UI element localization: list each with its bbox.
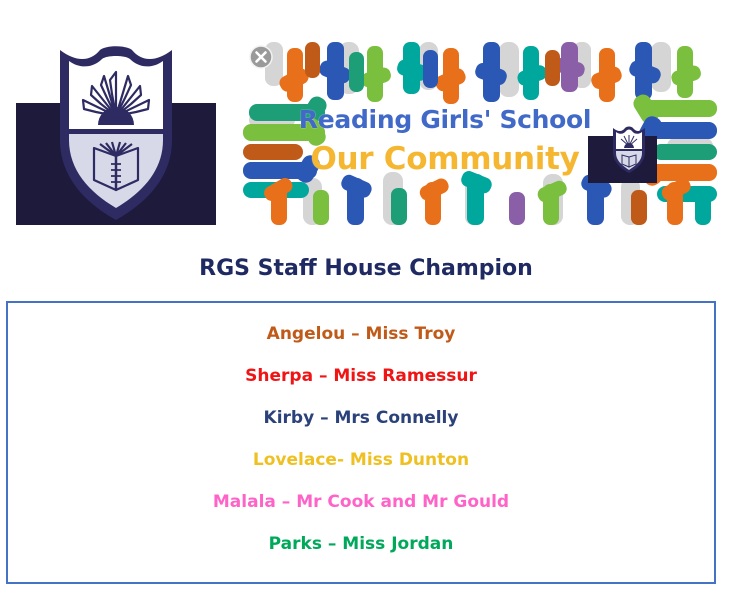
champion-row-parks: Parks – Miss Jordan <box>8 523 714 565</box>
house-champions-box: Angelou – Miss Troy Sherpa – Miss Ramess… <box>6 301 716 584</box>
logo-navy-backdrop <box>16 103 216 225</box>
champion-label-lovelace: Lovelace- Miss Dunton <box>253 450 469 470</box>
champion-row-kirby: Kirby – Mrs Connelly <box>8 397 714 439</box>
house-champions-list: Angelou – Miss Troy Sherpa – Miss Ramess… <box>8 303 714 565</box>
community-banner: Reading Girls' School Our Community <box>243 42 717 225</box>
banner-title-secondary: Our Community <box>243 141 647 177</box>
close-icon[interactable] <box>249 45 273 69</box>
champion-label-angelou: Angelou – Miss Troy <box>267 324 456 344</box>
champion-row-lovelace: Lovelace- Miss Dunton <box>8 439 714 481</box>
champion-label-malala: Malala – Mr Cook and Mr Gould <box>213 492 509 512</box>
champion-row-sherpa: Sherpa – Miss Ramessur <box>8 355 714 397</box>
champion-label-parks: Parks – Miss Jordan <box>269 534 454 554</box>
champion-label-sherpa: Sherpa – Miss Ramessur <box>245 366 477 386</box>
champion-row-angelou: Angelou – Miss Troy <box>8 313 714 355</box>
champion-row-malala: Malala – Mr Cook and Mr Gould <box>8 481 714 523</box>
page-title: RGS Staff House Champion <box>0 256 732 281</box>
banner-title-primary: Reading Girls' School <box>243 105 647 134</box>
champion-label-kirby: Kirby – Mrs Connelly <box>264 408 459 428</box>
top-media-row: Reading Girls' School Our Community <box>0 0 732 240</box>
